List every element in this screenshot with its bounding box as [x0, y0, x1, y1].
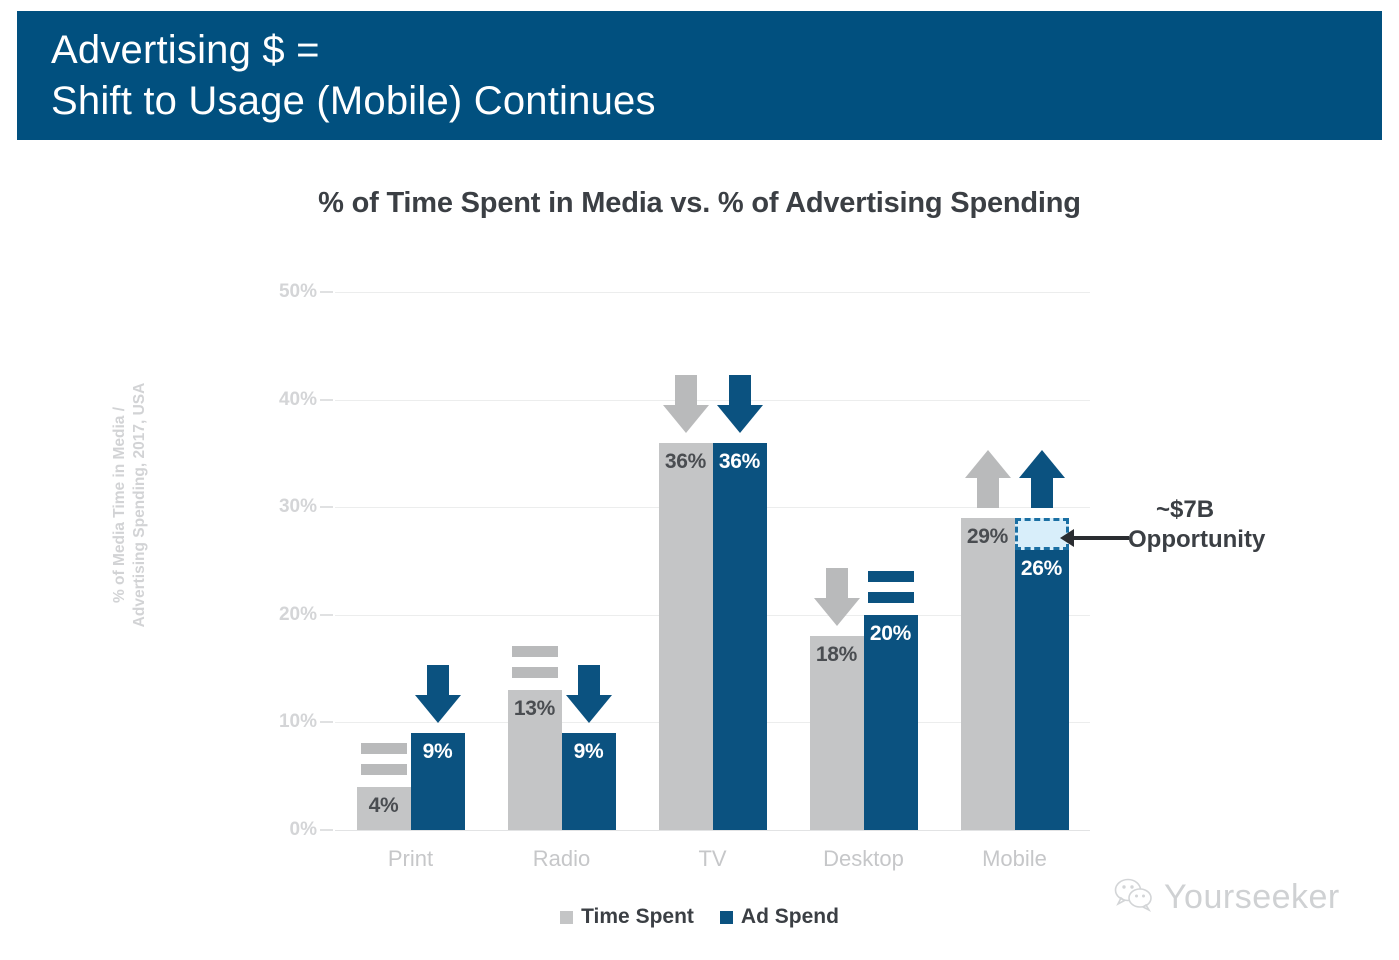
bar-value-tv-ad-spend: 36% — [713, 450, 767, 474]
y-tick-mark-10% — [320, 721, 333, 723]
indicator-print-ad-spend — [415, 665, 461, 723]
indicator-tv-time-spent — [663, 375, 709, 433]
y-tick-mark-20% — [320, 614, 333, 616]
bar-value-desktop-time-spent: 18% — [810, 643, 864, 667]
watermark-text: Yourseeker — [1164, 878, 1340, 917]
bar-group-radio: 13%9% — [508, 292, 616, 830]
bar-value-print-ad-spend: 9% — [411, 740, 465, 764]
indicator-mobile-time-spent — [965, 450, 1011, 508]
blue-arrow-down-icon — [415, 665, 461, 723]
indicator-tv-ad-spend — [717, 375, 763, 433]
opportunity-label: Opportunity — [1128, 525, 1368, 555]
blue-arrow-up-icon — [1019, 450, 1065, 508]
bar-value-desktop-ad-spend: 20% — [864, 622, 918, 646]
x-axis-label-tv: TV — [637, 846, 788, 872]
bar-radio-time-spent: 13% — [508, 690, 562, 830]
y-tick-mark-40% — [320, 399, 333, 401]
bar-print-ad-spend: 9% — [411, 733, 465, 830]
legend-swatch-time-spent — [560, 911, 573, 924]
blue-arrow-down-icon — [717, 375, 763, 433]
gridline-0% — [335, 830, 1090, 831]
legend-item-ad-spend: Ad Spend — [720, 905, 839, 929]
bar-desktop-time-spent: 18% — [810, 636, 864, 830]
bar-radio-ad-spend: 9% — [562, 733, 616, 830]
bar-mobile-time-spent: 29% — [961, 518, 1015, 830]
indicator-radio-ad-spend — [566, 665, 612, 723]
opportunity-amount: ~$7B — [1128, 495, 1368, 525]
header-title-line-2: Shift to Usage (Mobile) Continues — [51, 76, 1382, 127]
chart-title: % of Time Spent in Media vs. % of Advert… — [0, 187, 1399, 220]
header-title-line-1: Advertising $ = — [51, 25, 1382, 76]
opportunity-arrow-icon — [1073, 536, 1129, 540]
wechat-icon — [1114, 878, 1154, 917]
bar-mobile-ad-spend: 26% — [1015, 550, 1069, 830]
bar-value-radio-time-spent: 13% — [508, 697, 562, 721]
plot-area: 0%10%20%30%40%50% 4%9%13%9%36%36%18%20%2… — [335, 292, 1090, 830]
indicator-desktop-ad-spend — [868, 571, 914, 605]
chart-area: % of Time Spent in Media vs. % of Advert… — [0, 140, 1399, 960]
bar-value-tv-time-spent: 36% — [659, 450, 713, 474]
opportunity-annotation: ~$7B Opportunity — [1128, 495, 1368, 555]
indicator-mobile-ad-spend — [1019, 450, 1065, 508]
y-tick-mark-0% — [320, 829, 333, 831]
bar-tv-ad-spend: 36% — [713, 443, 767, 830]
y-axis-title: % of Media Time in Media / Advertising S… — [110, 315, 150, 695]
y-tick-label-10%: 10% — [279, 711, 317, 733]
gray-arrow-up-icon — [965, 450, 1011, 508]
y-tick-label-40%: 40% — [279, 389, 317, 411]
indicator-desktop-time-spent — [814, 568, 860, 626]
legend-label-time-spent: Time Spent — [581, 905, 694, 929]
indicator-print-time-spent — [361, 743, 407, 777]
legend-item-time-spent: Time Spent — [560, 905, 694, 929]
legend-swatch-ad-spend — [720, 911, 733, 924]
bar-group-desktop: 18%20% — [810, 292, 918, 830]
bar-group-print: 4%9% — [357, 292, 465, 830]
bar-value-radio-ad-spend: 9% — [562, 740, 616, 764]
bar-tv-time-spent: 36% — [659, 443, 713, 830]
blue-arrow-down-icon — [566, 665, 612, 723]
x-axis-label-mobile: Mobile — [939, 846, 1090, 872]
watermark: Yourseeker — [1114, 878, 1340, 917]
x-axis-label-desktop: Desktop — [788, 846, 939, 872]
blue-equals-icon — [868, 571, 914, 605]
indicator-radio-time-spent — [512, 646, 558, 680]
y-tick-label-50%: 50% — [279, 281, 317, 303]
bar-group-tv: 36%36% — [659, 292, 767, 830]
y-tick-label-20%: 20% — [279, 604, 317, 626]
x-axis-label-radio: Radio — [486, 846, 637, 872]
y-tick-label-30%: 30% — [279, 496, 317, 518]
bar-desktop-ad-spend: 20% — [864, 615, 918, 830]
bar-print-time-spent: 4% — [357, 787, 411, 830]
gray-arrow-down-icon — [663, 375, 709, 433]
gray-equals-icon — [361, 743, 407, 777]
gray-arrow-down-icon — [814, 568, 860, 626]
bar-value-mobile-ad-spend: 26% — [1015, 557, 1069, 581]
bar-value-mobile-time-spent: 29% — [961, 525, 1015, 549]
x-axis-label-print: Print — [335, 846, 486, 872]
bar-value-print-time-spent: 4% — [357, 794, 411, 818]
y-tick-label-0%: 0% — [290, 819, 317, 841]
bar-group-mobile: 29%26% — [961, 292, 1069, 830]
y-tick-mark-50% — [320, 291, 333, 293]
y-tick-mark-30% — [320, 506, 333, 508]
gray-equals-icon — [512, 646, 558, 680]
header-banner: Advertising $ = Shift to Usage (Mobile) … — [17, 11, 1382, 140]
legend-label-ad-spend: Ad Spend — [741, 905, 839, 929]
